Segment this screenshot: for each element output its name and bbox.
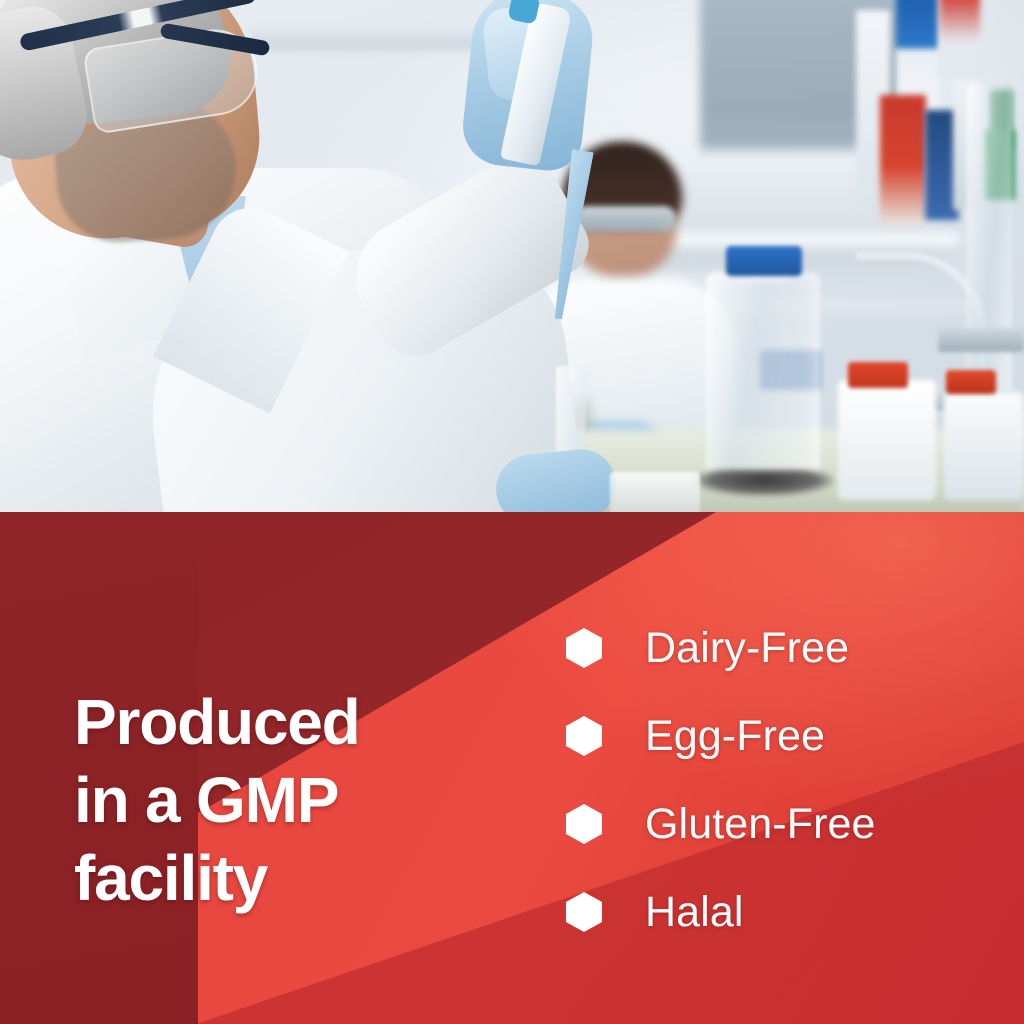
hexagon-bullet-icon (566, 716, 602, 756)
red-message-panel: Produced in a GMP facility Dairy-Free Eg… (0, 512, 1024, 1024)
plastic-canister (944, 392, 1024, 500)
shelf-edge (660, 232, 960, 246)
plastic-canister-cap (946, 370, 996, 394)
reagent-bottle-cap (726, 246, 802, 276)
list-item: Halal (566, 868, 986, 956)
plastic-canister (838, 380, 936, 500)
feature-label: Halal (645, 891, 744, 934)
feature-label: Egg-Free (645, 715, 825, 758)
background-scientist-goggles-icon (574, 206, 676, 232)
feature-label: Dairy-Free (645, 627, 849, 670)
plastic-canister-cap (848, 362, 908, 388)
beaker (610, 472, 700, 512)
list-item: Gluten-Free (566, 780, 986, 868)
lab-photo (0, 0, 1024, 512)
glass-column (966, 84, 1012, 414)
promo-card: Produced in a GMP facility Dairy-Free Eg… (0, 0, 1024, 1024)
reagent-box (940, 0, 980, 74)
lab-clamp (938, 328, 1024, 352)
reagent-bottle (706, 272, 820, 488)
feature-list: Dairy-Free Egg-Free Gluten-Free Halal (566, 604, 986, 956)
list-item: Egg-Free (566, 692, 986, 780)
page-title: Produced in a GMP facility (74, 683, 494, 917)
hexagon-bullet-icon (566, 628, 602, 668)
hexagon-bullet-icon (566, 804, 602, 844)
reagent-box (880, 95, 926, 225)
hexagon-bullet-icon (566, 892, 602, 932)
feature-label: Gluten-Free (645, 803, 876, 846)
reagent-bottle-base (694, 470, 834, 496)
list-item: Dairy-Free (566, 604, 986, 692)
